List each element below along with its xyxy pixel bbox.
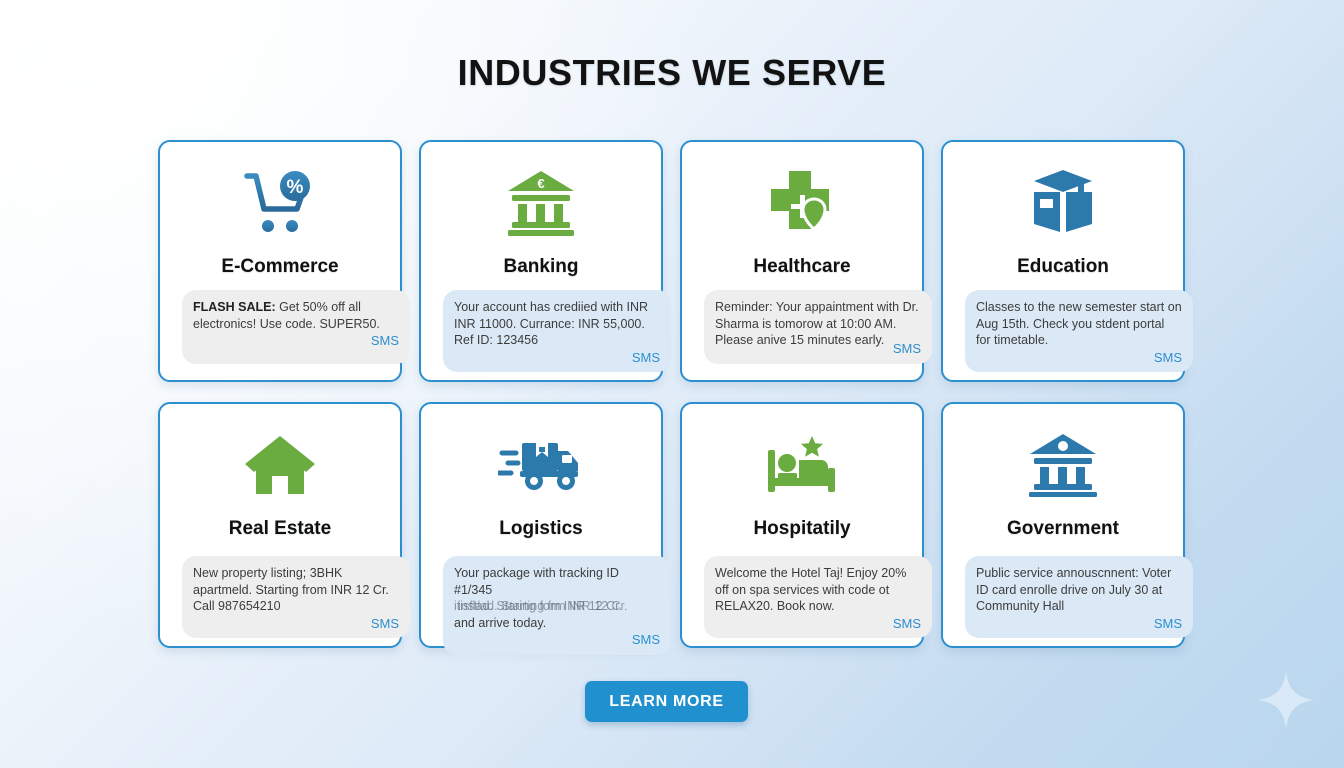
industry-card-e-commerce[interactable]: % E-Commerce FLASH SALE: Get 50% off all…	[158, 140, 402, 382]
sms-message: Your account has crediied with INR INR 1…	[454, 299, 660, 349]
sparkle-icon	[1256, 670, 1316, 730]
sms-channel-tag: SMS	[454, 632, 660, 649]
sms-bubble: Classes to the new semester start on Aug…	[965, 290, 1193, 372]
industry-card-hospitality[interactable]: Hospitatily Welcome the Hotel Taj! Enjoy…	[680, 402, 924, 648]
sms-message-bold: FLASH SALE:	[193, 300, 276, 314]
card-title: Education	[1017, 256, 1109, 278]
industry-card-government[interactable]: Government Public service annouscnnent: …	[941, 402, 1185, 648]
sms-channel-tag: SMS	[193, 333, 399, 350]
sms-message-ghost-b: instlad. Starting frm INR 12 Cr.	[458, 598, 628, 615]
sms-channel-tag: SMS	[715, 616, 921, 633]
bed-star-icon	[762, 426, 842, 504]
graduation-cap-book-icon	[1026, 164, 1100, 242]
card-title: Real Estate	[229, 518, 331, 540]
delivery-truck-icon	[498, 426, 584, 504]
card-title: Healthcare	[753, 256, 850, 278]
industry-card-real-estate[interactable]: Real Estate New property listing; 3BHK a…	[158, 402, 402, 648]
card-title: Hospitatily	[753, 518, 850, 540]
sms-channel-tag: SMS	[454, 350, 660, 367]
sms-bubble: New property listing; 3BHK apartmeld. St…	[182, 556, 410, 638]
sms-message-line-2-garbled: itisflad. Staring fom INR 12 Cr. instlad…	[454, 598, 660, 615]
svg-text:€: €	[537, 176, 544, 191]
industry-card-banking[interactable]: € Banking Your account has crediied with…	[419, 140, 663, 382]
industry-card-logistics[interactable]: Logistics Your package with tracking ID …	[419, 402, 663, 648]
svg-text:%: %	[287, 177, 304, 198]
sms-message: Classes to the new semester start on Aug…	[976, 299, 1182, 349]
sms-bubble: Your package with tracking ID #1/345 iti…	[443, 556, 671, 655]
card-title: E-Commerce	[221, 256, 338, 278]
sms-message-line-3: and arrive today.	[454, 615, 660, 632]
sms-message: Welcome the Hotel Taj! Enjoy 20% off on …	[715, 565, 921, 615]
sms-bubble: Reminder: Your appaintment with Dr. Shar…	[704, 290, 932, 364]
sms-bubble: Welcome the Hotel Taj! Enjoy 20% off on …	[704, 556, 932, 638]
sms-bubble: FLASH SALE: Get 50% off all electronics!…	[182, 290, 410, 364]
sms-message: New property listing; 3BHK apartmeld. St…	[193, 565, 399, 615]
bank-building-euro-icon: €	[504, 164, 578, 242]
government-building-icon	[1026, 426, 1100, 504]
industries-grid: % E-Commerce FLASH SALE: Get 50% off all…	[158, 140, 1186, 648]
sms-channel-tag: SMS	[193, 616, 399, 633]
shopping-cart-percent-icon: %	[244, 164, 316, 242]
sms-message: Public service annouscnnent: Voter ID ca…	[976, 565, 1182, 615]
house-icon	[244, 426, 316, 504]
sms-bubble: Public service annouscnnent: Voter ID ca…	[965, 556, 1193, 638]
card-title: Logistics	[499, 518, 582, 540]
sms-message-line-1: Your package with tracking ID #1/345	[454, 565, 660, 598]
sms-channel-tag: SMS	[976, 616, 1182, 633]
industry-card-healthcare[interactable]: Healthcare Reminder: Your appaintment wi…	[680, 140, 924, 382]
sms-channel-tag: SMS	[976, 350, 1182, 367]
sms-bubble: Your account has crediied with INR INR 1…	[443, 290, 671, 372]
page-title: INDUSTRIES WE SERVE	[0, 52, 1344, 94]
card-title: Banking	[504, 256, 579, 278]
medical-cross-heart-icon	[767, 164, 837, 242]
card-title: Government	[1007, 518, 1119, 540]
learn-more-button[interactable]: LEARN MORE	[585, 681, 748, 722]
industry-card-education[interactable]: Education Classes to the new semester st…	[941, 140, 1185, 382]
sms-message: FLASH SALE: Get 50% off all electronics!…	[193, 299, 399, 332]
